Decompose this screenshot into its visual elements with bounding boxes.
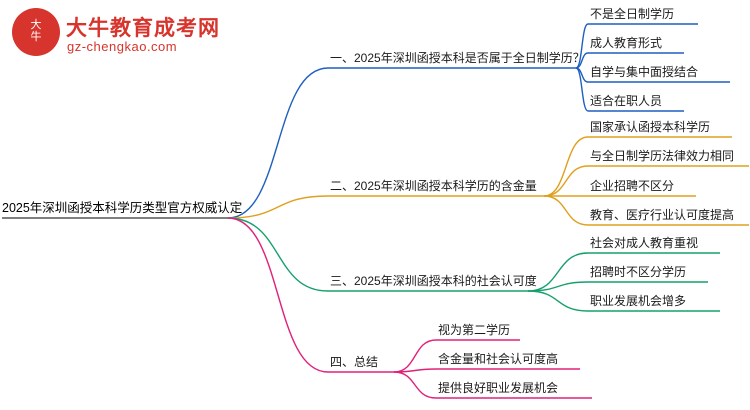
mindmap-root-label: 2025年深圳函授本科学历类型官方权威认定 xyxy=(2,201,242,215)
mindmap-branch-label-4: 四、总结 xyxy=(330,355,378,369)
mindmap-leaf-4-1: 视为第二学历 xyxy=(438,323,510,337)
mindmap-leaf-1-2: 成人教育形式 xyxy=(590,36,662,50)
mindmap-branch-label-2: 二、2025年深圳函授本科学历的含金量 xyxy=(330,179,537,193)
mindmap-branch-label-1: 一、2025年深圳函授本科是否属于全日制学历？ xyxy=(330,51,585,65)
mindmap-leaf-2-1: 国家承认函授本科学历 xyxy=(590,120,710,134)
mindmap-leaf-3-1: 社会对成人教育重视 xyxy=(590,236,698,250)
mindmap-leaf-1-4: 适合在职人员 xyxy=(590,94,662,108)
mindmap-leaf-1-3: 自学与集中面授结合 xyxy=(590,65,698,79)
mindmap-leaf-1-1: 不是全日制学历 xyxy=(590,7,674,21)
mindmap-leaf-2-2: 与全日制学历法律效力相同 xyxy=(590,149,734,163)
mindmap-leaf-4-2: 含金量和社会认可度高 xyxy=(438,352,558,366)
mindmap-leaf-3-2: 招聘时不区分学历 xyxy=(590,265,686,279)
mindmap-leaf-3-3: 职业发展机会增多 xyxy=(590,294,686,308)
mindmap-leaf-2-3: 企业招聘不区分 xyxy=(590,179,674,193)
mindmap-leaf-4-3: 提供良好职业发展机会 xyxy=(438,381,558,395)
mindmap-leaf-2-4: 教育、医疗行业认可度提高 xyxy=(590,208,734,222)
mindmap-branch-label-3: 三、2025年深圳函授本科的社会认可度 xyxy=(330,274,537,288)
